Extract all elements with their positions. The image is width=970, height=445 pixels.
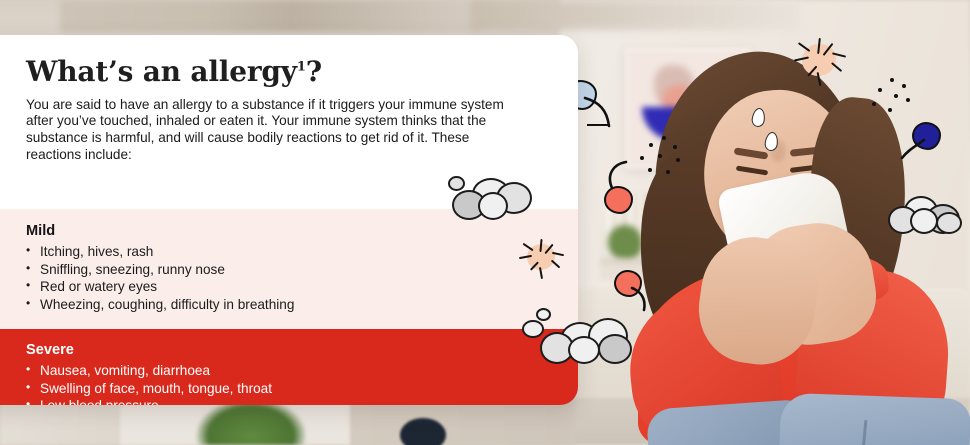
allergy-info-card: What’s an allergy1? You are said to have… [0, 35, 578, 405]
navy-blob-with-tail-doodle [912, 122, 941, 150]
coral-blob-tail-lower-icon [630, 286, 660, 314]
navy-blob-tail-icon [900, 138, 928, 164]
dark-object [400, 418, 446, 445]
blue-blob-tail-icon [583, 96, 629, 130]
page-title: What’s an allergy1? [26, 57, 538, 88]
cloud-over-red-puff-doodle [522, 320, 544, 336]
mild-heading: Mild [26, 223, 538, 239]
list-item: Low blood pressure [26, 397, 538, 405]
list-item: Swelling of face, mouth, tongue, throat [26, 380, 538, 398]
cloud-bottom-right-puff-doodle [936, 212, 966, 234]
severe-symptoms-section: Severe Nausea, vomiting, diarrhoea Swell… [0, 329, 578, 405]
list-item: Itching, hives, rash [26, 243, 538, 261]
wall-top-strip-2 [470, 0, 800, 30]
list-item: Red or watery eyes [26, 278, 538, 296]
coral-blob-tail-upper-icon [606, 160, 642, 190]
pollen-burst-pink-section-doodle [527, 244, 555, 270]
mild-symptoms-section: Mild Itching, hives, rash Sniffling, sne… [0, 209, 578, 329]
page-title-text: What’s an allergy [26, 55, 297, 88]
wall-top-strip [60, 0, 480, 32]
pollen-burst-top-right-doodle [802, 44, 836, 76]
woman-sneezing [630, 28, 970, 445]
mild-symptoms-list: Itching, hives, rash Sniffling, sneezing… [26, 243, 538, 313]
list-item: Nausea, vomiting, diarrhoea [26, 362, 538, 380]
intro-paragraph: You are said to have an allergy to a sub… [26, 97, 526, 163]
title-question-mark: ? [306, 55, 322, 88]
infographic-canvas: What’s an allergy1? You are said to have… [0, 0, 970, 445]
dot-cluster-center-doodle [640, 136, 684, 176]
severe-heading: Severe [26, 342, 538, 358]
coral-blob-with-tail-lower-doodle [614, 270, 642, 297]
cloud-over-red-section-doodle [540, 318, 632, 364]
title-footnote-marker: 1 [297, 60, 306, 75]
coral-blob-with-tail-upper-doodle [604, 176, 633, 214]
dot-cluster-right-doodle [872, 78, 912, 114]
cloud-over-pink-puff-doodle [448, 176, 466, 190]
cloud-over-red-small-puff-doodle [536, 308, 550, 320]
list-item: Wheezing, coughing, difficulty in breath… [26, 296, 538, 314]
list-item: Sniffling, sneezing, runny nose [26, 261, 538, 279]
severe-symptoms-list: Nausea, vomiting, diarrhoea Swelling of … [26, 362, 538, 405]
floor-plant [196, 398, 306, 445]
